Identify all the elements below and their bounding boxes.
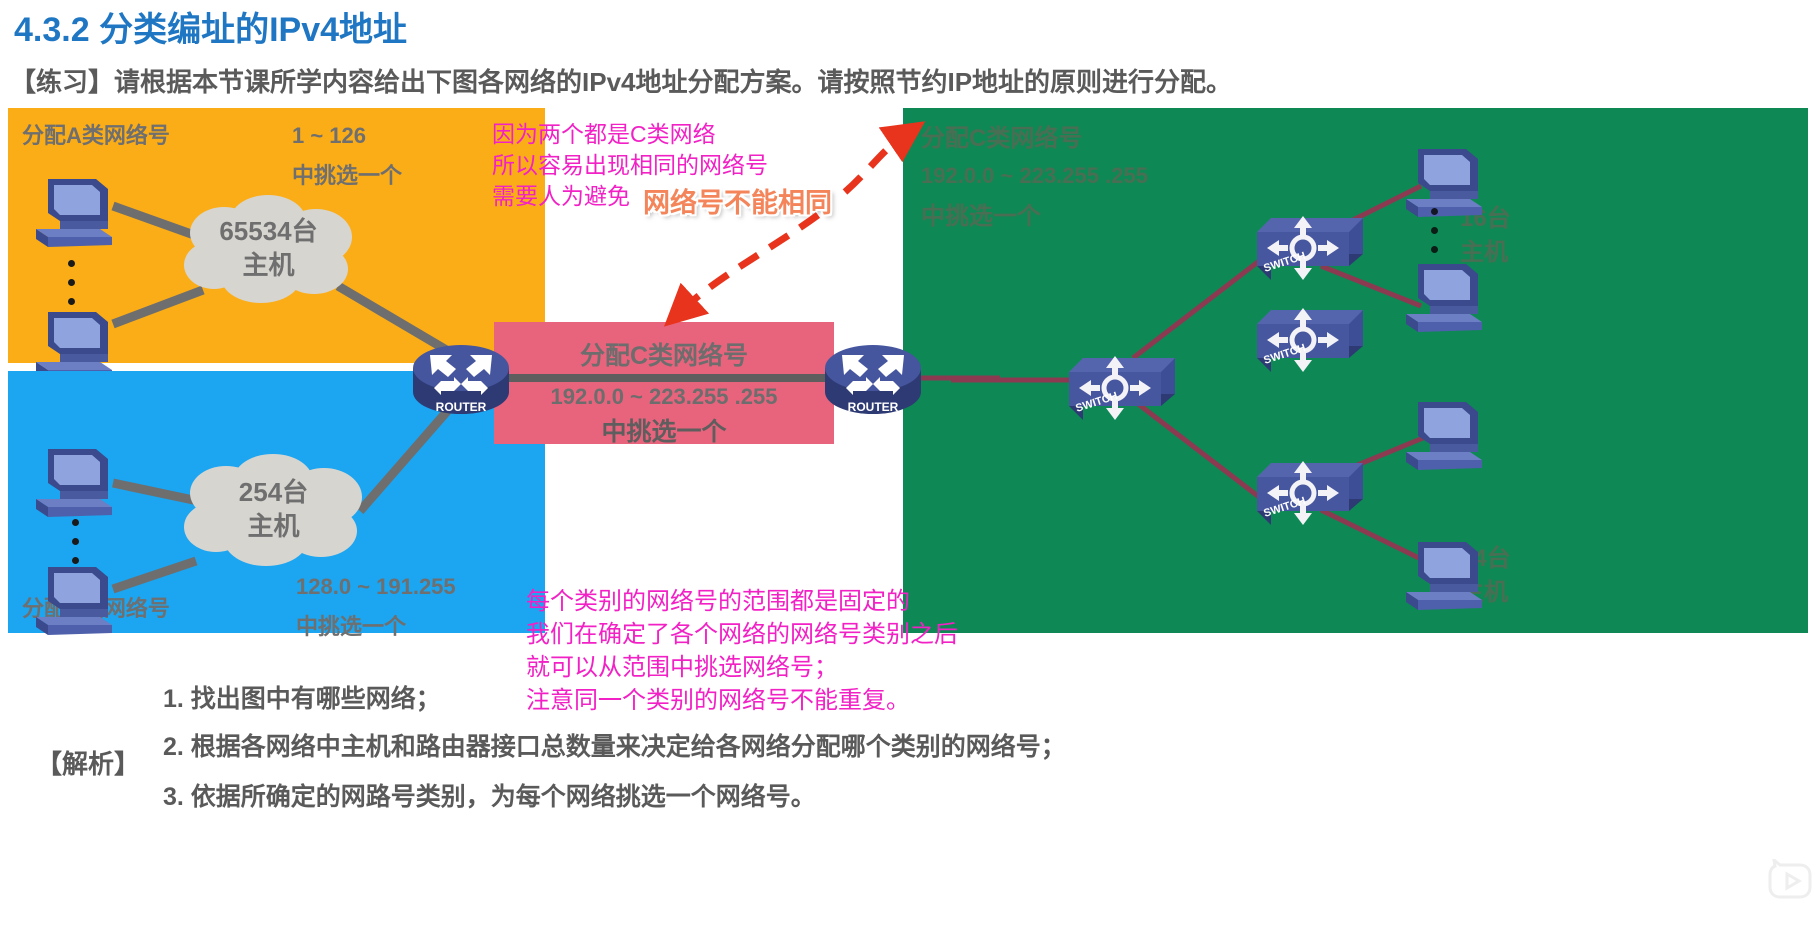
analysis-item-1: 1. 找出图中有哪些网络； bbox=[163, 679, 441, 715]
analysis-item-3: 3. 依据所确定的网路号类别，为每个网络挑选一个网络号。 bbox=[163, 777, 816, 813]
arrow-to-pink-icon bbox=[682, 215, 818, 310]
panel-b-cloud-text: 254台 主机 bbox=[239, 475, 308, 543]
panel-b-cloud-line2: 主机 bbox=[239, 509, 308, 543]
panel-a-cloud-line1: 65534台 bbox=[219, 214, 317, 248]
panel-a-cloud-text: 65534台 主机 bbox=[219, 214, 317, 282]
play-watermark-icon bbox=[1768, 859, 1812, 899]
analysis-item-2: 2. 根据各网络中主机和路由器接口总数量来决定给各网络分配哪个类别的网络号； bbox=[163, 727, 1066, 763]
analysis-label: 【解析】 bbox=[36, 744, 140, 781]
arrow-to-green-icon bbox=[845, 135, 905, 192]
panel-b-cloud-line1: 254台 bbox=[239, 475, 308, 509]
panel-a-cloud-line2: 主机 bbox=[219, 248, 317, 282]
